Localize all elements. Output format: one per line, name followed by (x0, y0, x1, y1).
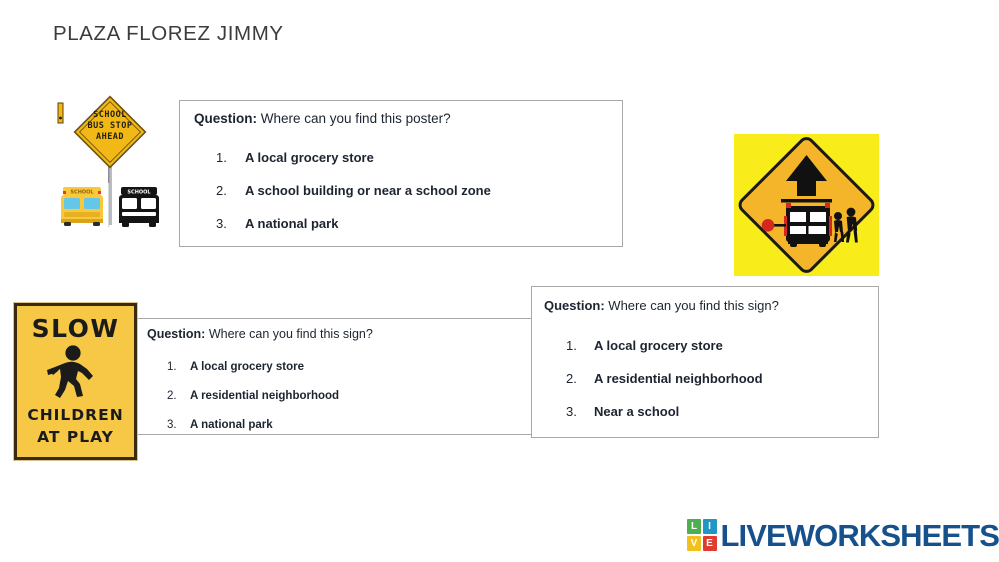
question-label: Question: (194, 111, 257, 126)
option-number: 2. (216, 174, 245, 207)
slow-sign-word-bottom: AT PLAY (17, 428, 134, 446)
question-prompt-2: Question: Where can you find this sign? (147, 327, 373, 341)
option-label: A residential neighborhood (594, 362, 763, 395)
answer-option[interactable]: 2. A school building or near a school zo… (216, 174, 491, 207)
answer-option[interactable]: 2. A residential neighborhood (167, 382, 339, 411)
question-card-2: Question: Where can you find this sign? … (134, 318, 534, 435)
slow-sign-word-mid: CHILDREN (17, 406, 134, 424)
running-child-icon (43, 344, 109, 402)
answer-option[interactable]: 1. A local grocery store (216, 141, 491, 174)
slow-sign-word-top: SLOW (17, 314, 134, 343)
question-text: Where can you find this poster? (261, 111, 451, 126)
answer-option[interactable]: 1. A local grocery store (566, 329, 763, 362)
question-label: Question: (544, 298, 605, 313)
school-bus-crossing-sign (734, 134, 879, 276)
answer-option[interactable]: 3. A national park (216, 207, 491, 240)
answer-option[interactable]: 1. A local grocery store (167, 353, 339, 382)
option-label: A residential neighborhood (190, 382, 339, 411)
question-text: Where can you find this sign? (608, 298, 779, 313)
question-text: Where can you find this sign? (209, 327, 373, 341)
answer-options-3: 1. A local grocery store 2. A residentia… (566, 329, 763, 428)
svg-text:SCHOOL: SCHOOL (93, 110, 127, 120)
worksheet-canvas: PLAZA FLOREZ JIMMY SCHOOL BUS STOP AHEAD (0, 0, 999, 562)
option-label: Near a school (594, 395, 679, 428)
liveworksheets-wordmark: LIVEWORKSHEETS (721, 520, 999, 551)
logo-block-l: L (687, 519, 701, 534)
answer-options-1: 1. A local grocery store 2. A school bui… (216, 141, 491, 240)
option-number: 1. (216, 141, 245, 174)
option-number: 2. (566, 362, 594, 395)
liveworksheets-logo[interactable]: L I V E LIVEWORKSHEETS (687, 517, 999, 553)
answer-option[interactable]: 3. Near a school (566, 395, 763, 428)
school-bus-stop-ahead-sign-icon: SCHOOL BUS STOP AHEAD SCHOOL (52, 95, 170, 235)
option-number: 1. (167, 353, 190, 382)
option-number: 1. (566, 329, 594, 362)
option-label: A school building or near a school zone (245, 174, 491, 207)
question-label: Question: (147, 327, 205, 341)
option-number: 3. (566, 395, 594, 428)
school-bus-crossing-sign-icon (734, 134, 879, 276)
question-prompt-1: Question: Where can you find this poster… (194, 111, 451, 126)
slow-children-at-play-sign: SLOW CHILDREN AT PLAY (14, 303, 137, 460)
yellow-school-bus-icon: SCHOOL (61, 187, 103, 226)
liveworksheets-logo-blocks: L I V E (687, 519, 717, 551)
page-title: PLAZA FLOREZ JIMMY (53, 22, 284, 46)
logo-block-e: E (703, 536, 717, 551)
option-label: A national park (245, 207, 338, 240)
svg-text:BUS STOP: BUS STOP (88, 121, 133, 131)
black-school-bus-icon: SCHOOL (119, 187, 159, 227)
school-bus-icon (784, 203, 832, 247)
logo-block-i: I (703, 519, 717, 534)
answer-options-2: 1. A local grocery store 2. A residentia… (167, 353, 339, 440)
option-label: A local grocery store (594, 329, 723, 362)
logo-block-v: V (687, 536, 701, 551)
option-number: 3. (167, 411, 190, 440)
answer-option[interactable]: 2. A residential neighborhood (566, 362, 763, 395)
svg-text:AHEAD: AHEAD (96, 132, 124, 142)
answer-option[interactable]: 3. A national park (167, 411, 339, 440)
option-label: A national park (190, 411, 273, 440)
option-label: A local grocery store (190, 353, 304, 382)
question-card-1: Question: Where can you find this poster… (179, 100, 623, 247)
svg-text:SCHOOL: SCHOOL (70, 190, 94, 196)
school-bus-stop-ahead-illustration: SCHOOL BUS STOP AHEAD SCHOOL (52, 95, 170, 235)
question-prompt-3: Question: Where can you find this sign? (544, 298, 779, 313)
option-number: 3. (216, 207, 245, 240)
question-card-3: Question: Where can you find this sign? … (531, 286, 879, 438)
option-label: A local grocery store (245, 141, 374, 174)
svg-text:SCHOOL: SCHOOL (127, 190, 151, 196)
option-number: 2. (167, 382, 190, 411)
